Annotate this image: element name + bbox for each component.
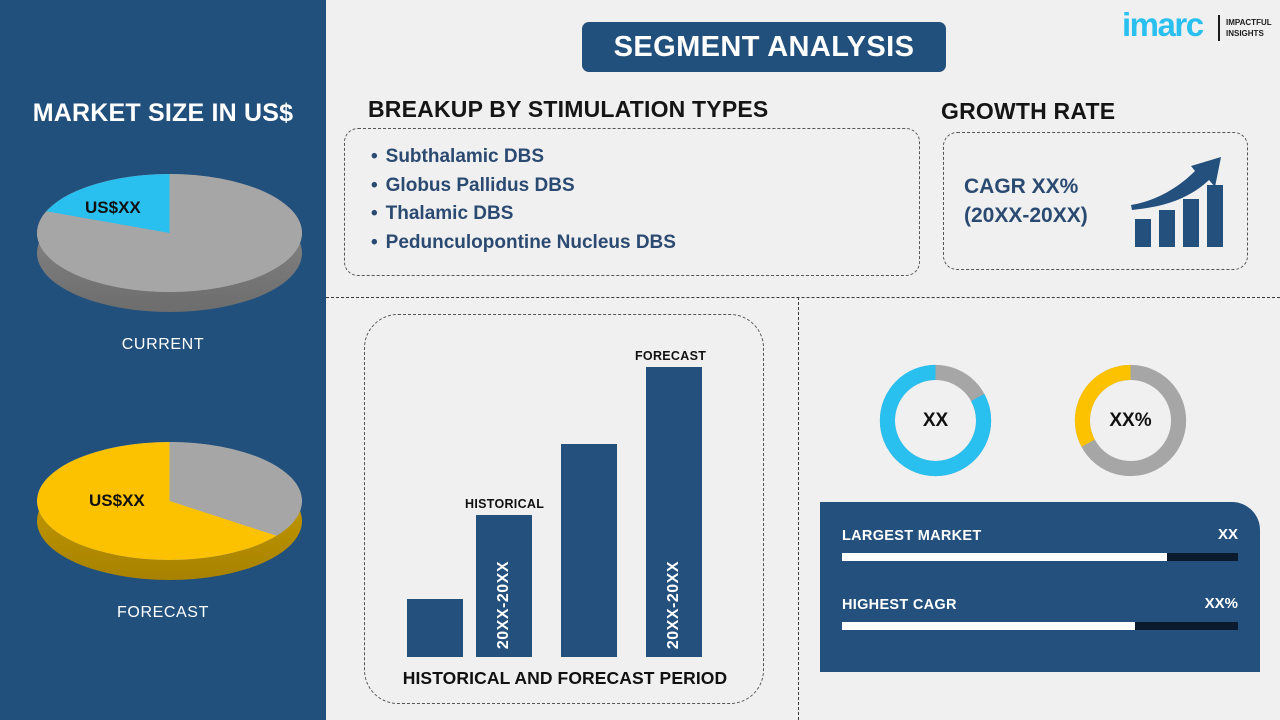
stat-progress-fill [842, 553, 1167, 561]
infographic-root: MARKET SIZE IN US$ US$XX CURRENT US$XX F… [0, 0, 1280, 720]
main-panel: SEGMENT ANALYSIS imarc IMPACTFUL INSIGHT… [326, 0, 1280, 720]
breakup-card: Subthalamic DBS Globus Pallidus DBS Thal… [344, 128, 920, 276]
table-row [407, 599, 463, 657]
donut-chart-percent: XX% [1067, 357, 1194, 484]
forecast-annotation: FORECAST [635, 349, 706, 363]
current-pie-chart: US$XX [25, 160, 301, 310]
market-stats-panel: LARGEST MARKET XX HIGHEST CAGR XX% [820, 502, 1260, 672]
current-pie-value-label: US$XX [85, 198, 141, 218]
pie-slice-value [37, 442, 302, 560]
forecast-pie-chart: US$XX [25, 428, 301, 578]
breakup-list: Subthalamic DBS Globus Pallidus DBS Thal… [345, 129, 919, 257]
cagr-value: CAGR XX% [964, 172, 1088, 201]
stat-label: HIGHEST CAGR [842, 597, 957, 613]
table-row: 20XX-20XX [476, 515, 532, 657]
logo-tagline: IMPACTFUL INSIGHTS [1226, 17, 1272, 39]
forecast-pie-caption: FORECAST [0, 604, 326, 622]
forecast-pie-value-label: US$XX [89, 491, 145, 511]
chart-caption: HISTORICAL AND FORECAST PERIOD [365, 668, 765, 689]
list-item: Globus Pallidus DBS [371, 172, 919, 201]
bar-period-label: 20XX-20XX [665, 561, 683, 649]
donut-center-label: XX [872, 357, 999, 484]
page-title: SEGMENT ANALYSIS [582, 22, 946, 72]
stat-progress-fill [842, 622, 1135, 630]
pie-surface [37, 174, 302, 292]
sidebar-title: MARKET SIZE IN US$ [0, 99, 326, 128]
logo-divider [1218, 15, 1220, 41]
current-pie-block: US$XX CURRENT [0, 160, 326, 354]
stat-progress-track [842, 553, 1238, 561]
historical-annotation: HISTORICAL [465, 497, 544, 511]
logo-tagline-line2: INSIGHTS [1226, 28, 1272, 39]
table-row: 20XX-20XX [646, 367, 702, 657]
horizontal-divider [326, 297, 1280, 298]
stat-largest-market: LARGEST MARKET XX [842, 528, 1238, 561]
stat-progress-track [842, 622, 1238, 630]
donut-center-label: XX% [1067, 357, 1194, 484]
historical-forecast-chart: 20XX-20XX 20XX-20XX HISTORICAL FORECAST … [364, 314, 764, 704]
market-size-sidebar: MARKET SIZE IN US$ US$XX CURRENT US$XX F… [0, 0, 326, 720]
list-item: Thalamic DBS [371, 200, 919, 229]
bar-period-label: 20XX-20XX [495, 561, 513, 649]
imarc-logo: imarc IMPACTFUL INSIGHTS [1122, 8, 1272, 54]
stat-value: XX [1218, 526, 1238, 543]
growth-card: CAGR XX% (20XX-20XX) [943, 132, 1248, 270]
cagr-period: (20XX-20XX) [964, 201, 1088, 230]
forecast-pie-block: US$XX FORECAST [0, 428, 326, 622]
table-row [561, 444, 617, 657]
list-item: Subthalamic DBS [371, 143, 919, 172]
stat-label: LARGEST MARKET [842, 528, 982, 544]
pie-surface [37, 442, 302, 560]
current-pie-caption: CURRENT [0, 336, 326, 354]
donut-chart-value: XX [872, 357, 999, 484]
stat-highest-cagr: HIGHEST CAGR XX% [842, 597, 1238, 630]
cagr-text: CAGR XX% (20XX-20XX) [964, 172, 1088, 230]
stat-header: HIGHEST CAGR XX% [842, 597, 1238, 617]
bar-chart-bars: 20XX-20XX 20XX-20XX HISTORICAL FORECAST [365, 335, 765, 657]
logo-tagline-line1: IMPACTFUL [1226, 17, 1272, 28]
pie-slice-value [37, 174, 302, 292]
growth-section-title: GROWTH RATE [941, 98, 1115, 125]
list-item: Pedunculopontine Nucleus DBS [371, 229, 919, 258]
stat-value: XX% [1205, 595, 1238, 612]
breakup-section-title: BREAKUP BY STIMULATION TYPES [368, 96, 768, 123]
vertical-divider [798, 297, 799, 720]
growth-arrow-bars-icon [1129, 149, 1233, 253]
stat-header: LARGEST MARKET XX [842, 528, 1238, 548]
